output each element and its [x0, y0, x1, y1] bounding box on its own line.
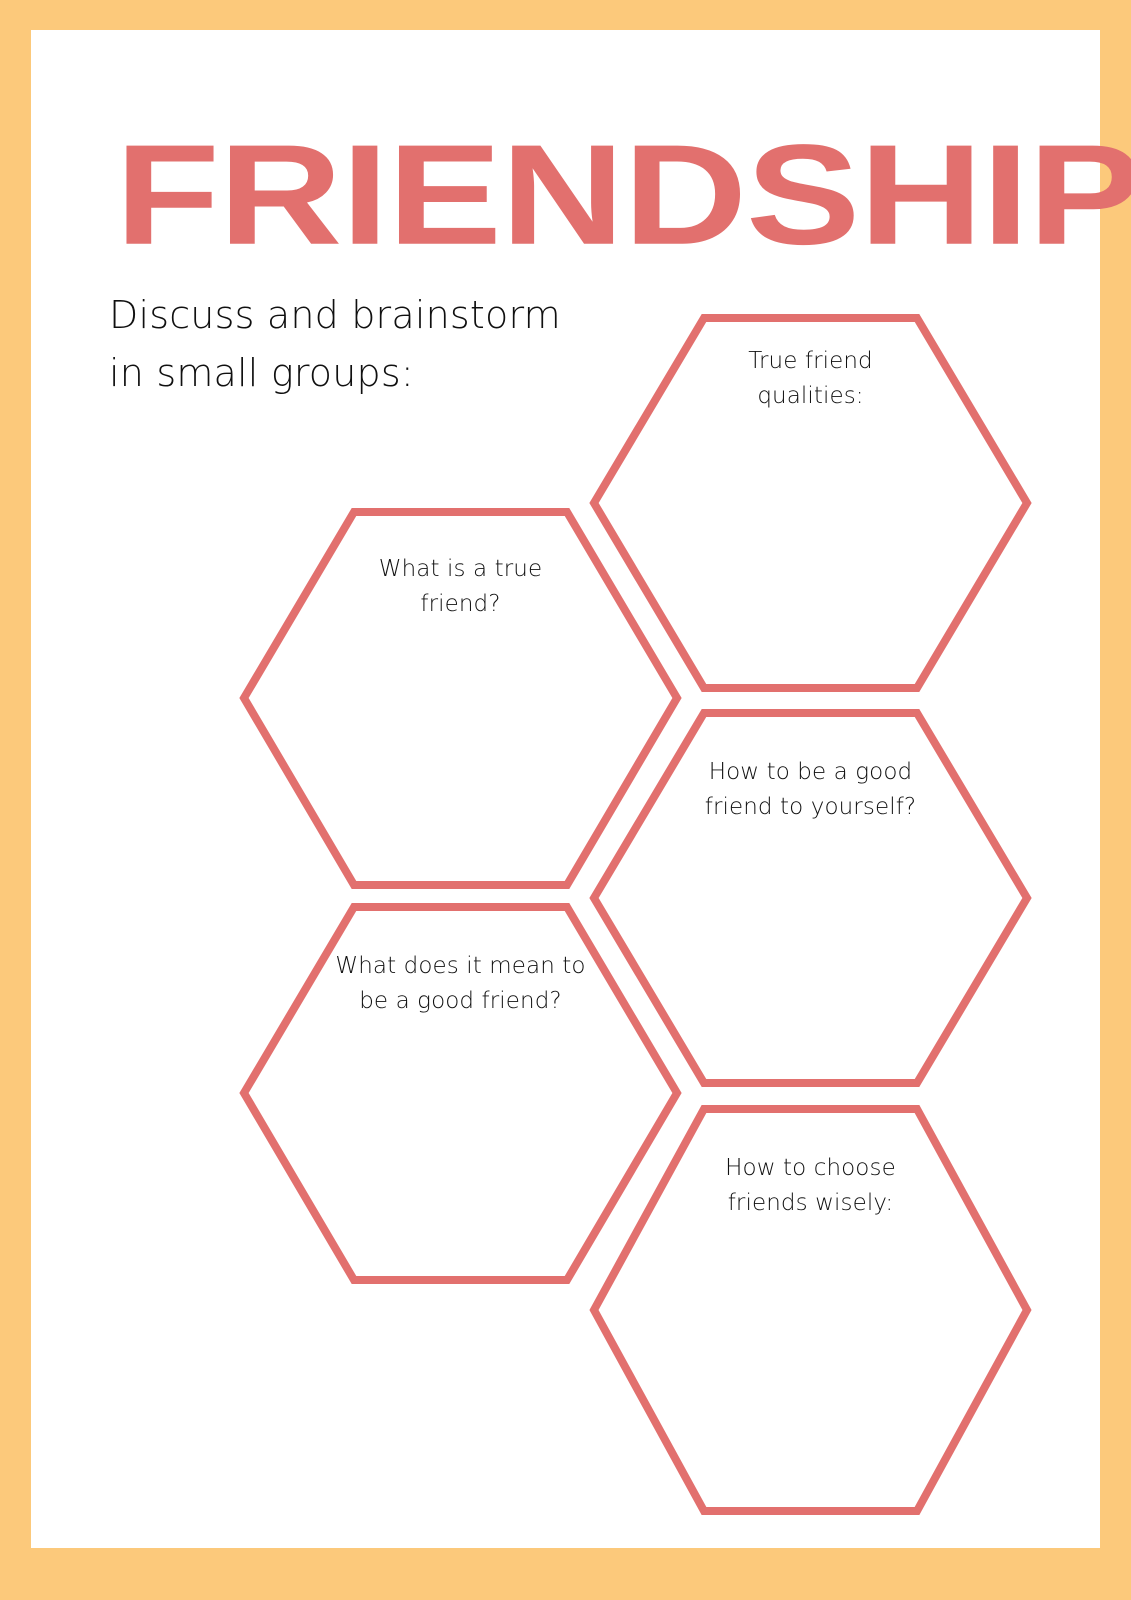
- worksheet-page: FRIENDSHIP Discuss and brainstorm in sma…: [0, 0, 1131, 1600]
- page-title: FRIENDSHIP: [115, 126, 1131, 264]
- worksheet-sheet: FRIENDSHIP Discuss and brainstorm in sma…: [31, 30, 1100, 1548]
- hexagon-shape-icon: [590, 1105, 1031, 1515]
- instruction-line-2: in small groups:: [109, 344, 629, 402]
- instruction-text: Discuss and brainstorm in small groups:: [109, 286, 629, 402]
- hexagon-choose-friends-wisely[interactable]: How to choose friends wisely:: [590, 1105, 1031, 1515]
- instruction-line-1: Discuss and brainstorm: [109, 286, 629, 344]
